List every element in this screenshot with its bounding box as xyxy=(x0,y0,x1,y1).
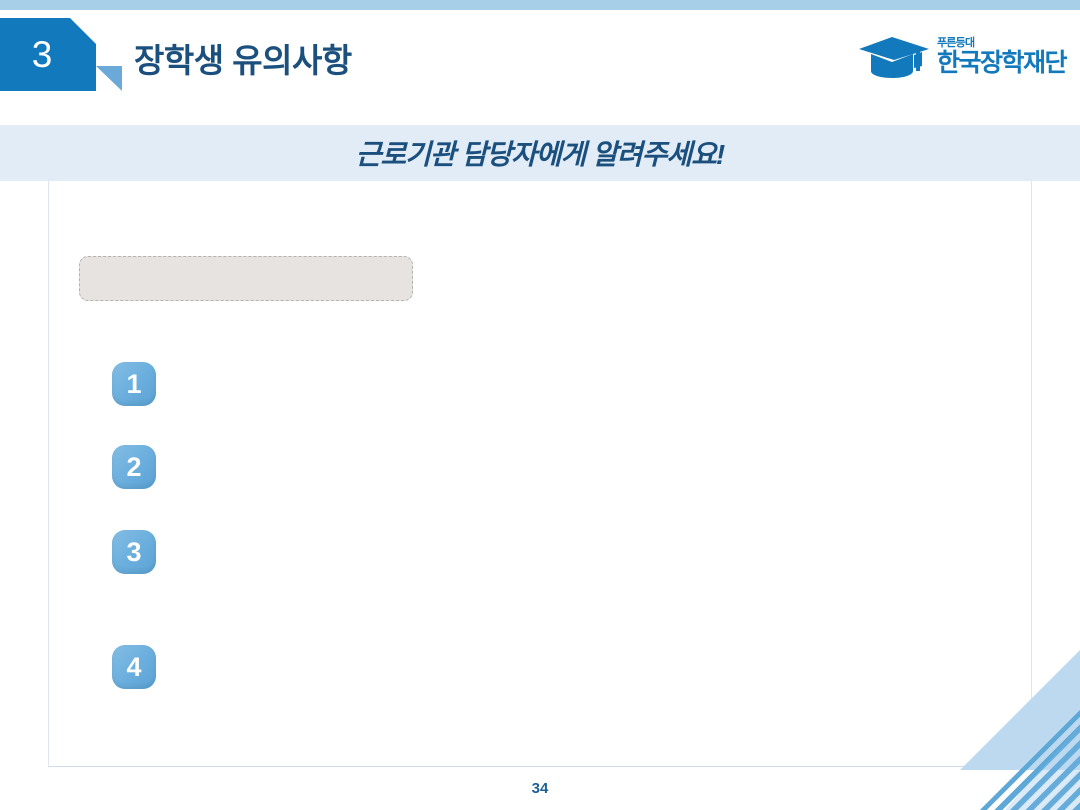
page-title: 장학생 유의사항 xyxy=(134,30,352,85)
subtitle-banner-text: 근로기관 담당자에게 알려주세요! xyxy=(356,133,725,173)
logo-subtitle: 푸른등대 xyxy=(937,38,1066,50)
list-item-badge-4: 4 xyxy=(112,645,156,689)
organization-logo: 푸른등대 한국장학재단 xyxy=(858,30,1066,84)
chevron-accent-triangle xyxy=(96,66,122,91)
logo-text-block: 푸른등대 한국장학재단 xyxy=(937,38,1066,76)
top-accent-bar xyxy=(0,0,1080,10)
subtitle-banner: 근로기관 담당자에게 알려주세요! xyxy=(0,125,1080,181)
callout-box xyxy=(79,256,413,301)
list-item-badge-2: 2 xyxy=(112,445,156,489)
logo-name: 한국장학재단 xyxy=(937,50,1066,76)
list-item-badge-3: 3 xyxy=(112,530,156,574)
page-number: 34 xyxy=(0,780,1080,797)
list-item-badge-1: 1 xyxy=(112,362,156,406)
graduation-cap-icon xyxy=(858,35,930,79)
section-number: 3 xyxy=(0,18,84,91)
